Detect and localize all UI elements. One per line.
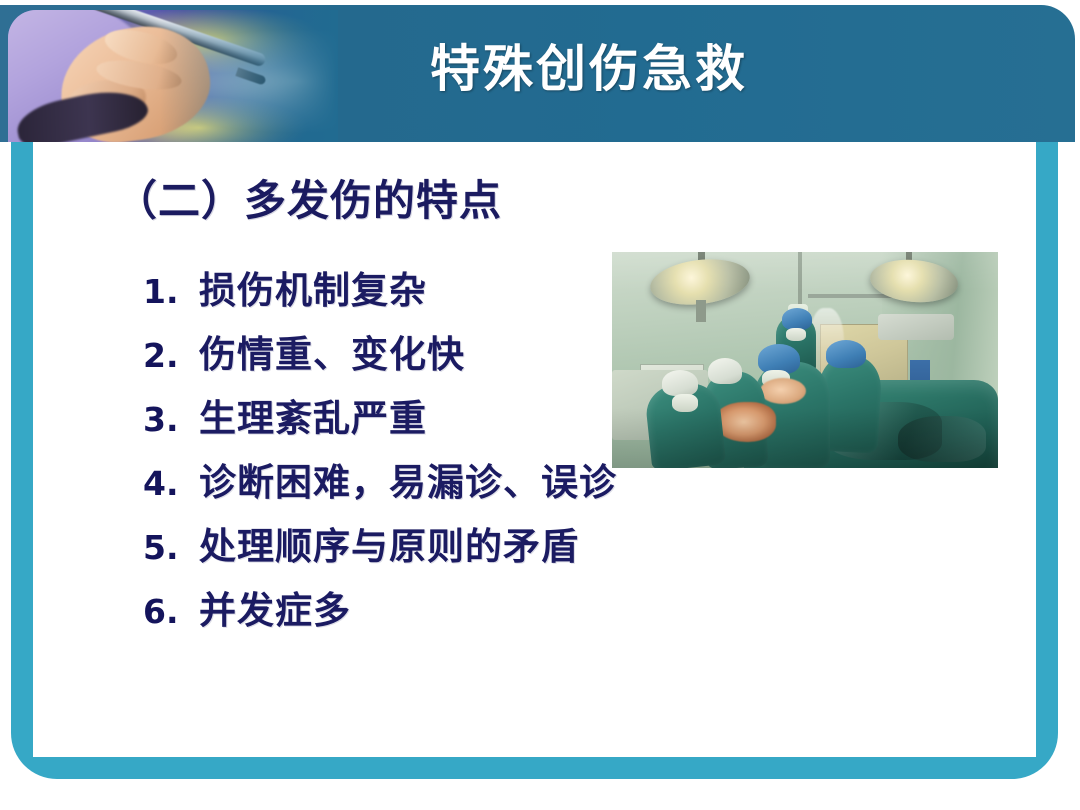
list-item: 6. 并发症多: [143, 580, 923, 644]
list-item-label: 并发症多: [199, 580, 351, 634]
presentation-slide: 特殊创伤急救 （二）多发伤的特点 1. 损伤机制复杂 2. 伤情重、变化快 3.…: [0, 0, 1080, 810]
list-item-number: 2.: [143, 336, 199, 375]
list-item: 5. 处理顺序与原则的矛盾: [143, 516, 923, 580]
list-item-label: 诊断困难，易漏诊、误诊: [199, 452, 617, 506]
slide-content: （二）多发伤的特点 1. 损伤机制复杂 2. 伤情重、变化快 3. 生理紊乱严重…: [33, 142, 1036, 757]
photo-vignette: [612, 252, 998, 468]
list-item-label: 伤情重、变化快: [199, 324, 465, 378]
list-item-number: 1.: [143, 272, 199, 311]
list-item-label: 损伤机制复杂: [199, 260, 427, 314]
list-item-label: 处理顺序与原则的矛盾: [199, 516, 579, 570]
slide-header-band: 特殊创伤急救: [0, 5, 1075, 142]
list-item-number: 4.: [143, 464, 199, 503]
list-item-number: 5.: [143, 528, 199, 567]
section-heading: （二）多发伤的特点: [115, 180, 502, 222]
list-item-number: 3.: [143, 400, 199, 439]
operating-room-surgery-photo: [612, 252, 998, 468]
slide-title: 特殊创伤急救: [430, 41, 1030, 96]
hand-holding-pen-photo: [8, 10, 338, 142]
photo-fade-overlay: [8, 10, 338, 142]
list-item-number: 6.: [143, 592, 199, 631]
list-item-label: 生理紊乱严重: [199, 388, 427, 442]
